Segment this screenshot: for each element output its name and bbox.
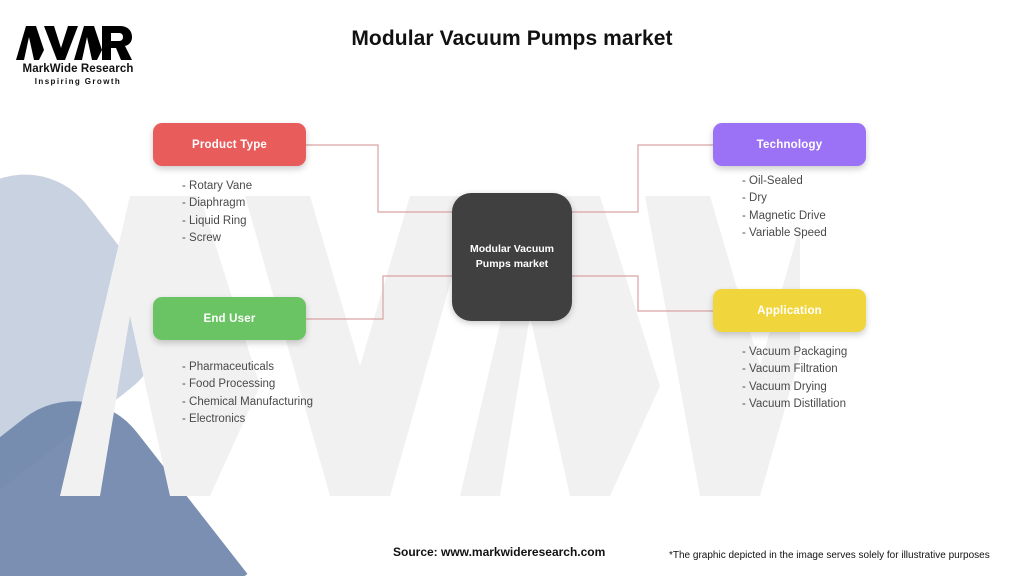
disclaimer-text: *The graphic depicted in the image serve… [669, 550, 990, 561]
connector-application [572, 276, 713, 311]
list-item: - Liquid Ring [182, 213, 252, 230]
source-text[interactable]: Source: www.markwideresearch.com [393, 545, 605, 559]
branch-header-technology[interactable]: Technology [713, 123, 866, 166]
connector-technology [572, 145, 713, 212]
list-item: - Chemical Manufacturing [182, 394, 313, 411]
branch-items-technology: - Oil-Sealed - Dry - Magnetic Drive - Va… [742, 173, 827, 243]
branch-header-application[interactable]: Application [713, 289, 866, 332]
list-item: - Magnetic Drive [742, 208, 827, 225]
list-item: - Electronics [182, 411, 313, 428]
list-item: - Diaphragm [182, 195, 252, 212]
branch-header-end-user[interactable]: End User [153, 297, 306, 340]
branch-label-end-user: End User [203, 313, 255, 325]
list-item: - Dry [742, 190, 827, 207]
connector-end-user [306, 276, 452, 319]
branch-label-technology: Technology [757, 139, 823, 151]
list-item: - Variable Speed [742, 225, 827, 242]
list-item: - Screw [182, 230, 252, 247]
branch-label-product-type: Product Type [192, 139, 267, 151]
infographic-canvas: MarkWide Research Inspiring Growth Modul… [0, 0, 1024, 576]
list-item: - Vacuum Packaging [742, 344, 847, 361]
list-item: - Vacuum Filtration [742, 361, 847, 378]
list-item: - Oil-Sealed [742, 173, 827, 190]
list-item: - Rotary Vane [182, 178, 252, 195]
connector-product-type [306, 145, 452, 212]
branch-label-application: Application [757, 305, 822, 317]
center-node-label: Modular Vacuum Pumps market [470, 242, 554, 272]
list-item: - Food Processing [182, 376, 313, 393]
branch-header-product-type[interactable]: Product Type [153, 123, 306, 166]
center-node[interactable]: Modular Vacuum Pumps market [452, 193, 572, 321]
list-item: - Pharmaceuticals [182, 359, 313, 376]
branch-items-end-user: - Pharmaceuticals - Food Processing - Ch… [182, 359, 313, 429]
list-item: - Vacuum Distillation [742, 396, 847, 413]
branch-items-product-type: - Rotary Vane - Diaphragm - Liquid Ring … [182, 178, 252, 248]
list-item: - Vacuum Drying [742, 379, 847, 396]
branch-items-application: - Vacuum Packaging - Vacuum Filtration -… [742, 344, 847, 414]
